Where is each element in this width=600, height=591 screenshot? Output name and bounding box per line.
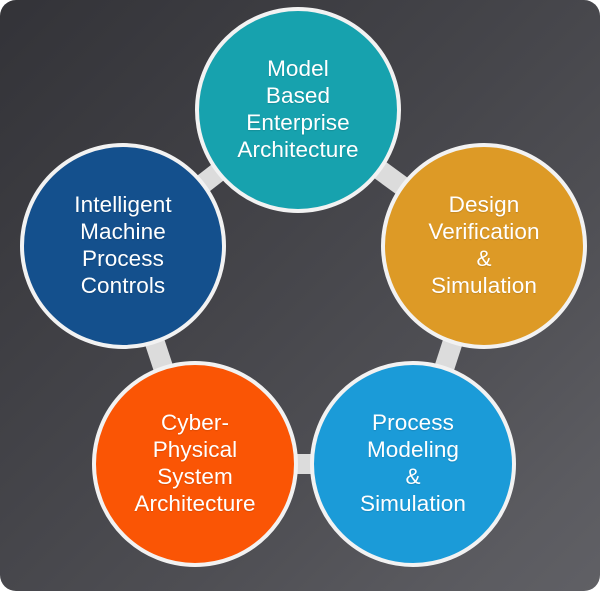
circle-group bbox=[22, 9, 585, 565]
cycle-diagram: Model Based Enterprise ArchitectureDesig… bbox=[0, 0, 600, 591]
node-circle-model-based-enterprise-architecture[interactable] bbox=[197, 9, 399, 211]
node-circle-intelligent-machine-process-controls[interactable] bbox=[22, 145, 224, 347]
diagram-canvas: Model Based Enterprise ArchitectureDesig… bbox=[0, 0, 600, 591]
node-circle-cyber-physical-system-architecture[interactable] bbox=[94, 363, 296, 565]
node-circle-design-verification-simulation[interactable] bbox=[383, 145, 585, 347]
node-circle-process-modeling-simulation[interactable] bbox=[312, 363, 514, 565]
diagram-svg bbox=[0, 0, 600, 591]
